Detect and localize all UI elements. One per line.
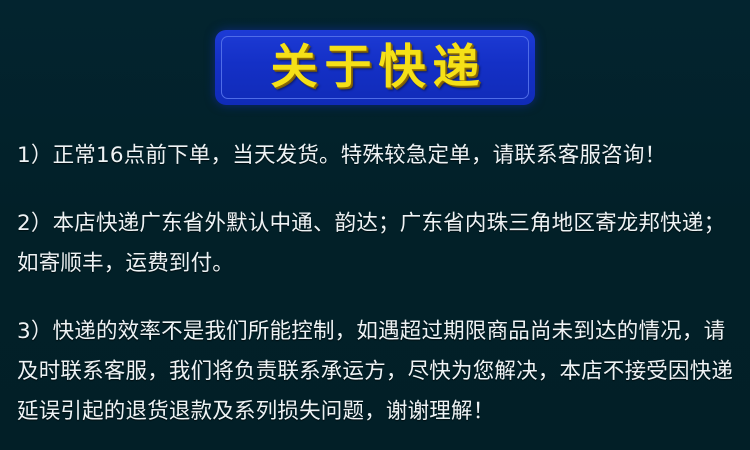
title-banner: 关于快递 — [215, 30, 535, 105]
paragraph-1: 1）正常16点前下单，当天发货。特殊较急定单，请联系客服咨询！ — [17, 136, 735, 176]
page-title: 关于快递 — [264, 44, 487, 91]
content-body: 1）正常16点前下单，当天发货。特殊较急定单，请联系客服咨询！ 2）本店快递广东… — [17, 136, 735, 432]
banner-container: 关于快递 — [0, 28, 750, 106]
shipping-info-page: 关于快递 1）正常16点前下单，当天发货。特殊较急定单，请联系客服咨询！ 2）本… — [0, 0, 750, 450]
paragraph-2: 2）本店快递广东省外默认中通、韵达；广东省内珠三角地区寄龙邦快递；如寄顺丰，运费… — [17, 204, 735, 284]
paragraph-3: 3）快递的效率不是我们所能控制，如遇超过期限商品尚未到达的情况，请及时联系客服，… — [17, 312, 735, 432]
